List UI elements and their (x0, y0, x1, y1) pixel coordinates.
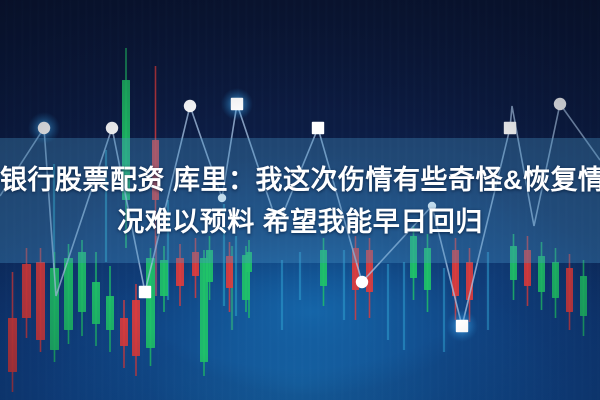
chart-candle-body (132, 300, 140, 356)
chart-candle-body (120, 318, 128, 346)
chart-node-square (504, 122, 516, 134)
chart-candle-body (92, 282, 100, 324)
chart-candle-body (36, 262, 45, 340)
headline-line-1: 银行股票配资 库里：我这次伤情有些奇怪&恢复情 (0, 159, 600, 201)
chart-node-circle (554, 98, 566, 110)
chart-candle-body (552, 262, 559, 298)
chart-node-square (231, 98, 243, 110)
chart-candle-body (106, 296, 114, 330)
chart-node-circle (356, 276, 368, 288)
chart-node-circle (38, 122, 50, 134)
chart-candle-body (200, 258, 208, 362)
chart-candle-body (566, 268, 573, 312)
banner-image: 银行股票配资 库里：我这次伤情有些奇怪&恢复情 况难以预料 希望我能早日回归 (0, 0, 600, 400)
chart-node-square (456, 320, 468, 332)
chart-candle-body (8, 318, 17, 372)
chart-node-circle (106, 122, 118, 134)
chart-node-square (139, 286, 151, 298)
headline-line-2: 况难以预料 希望我能早日回归 (0, 201, 600, 243)
chart-node-circle (184, 100, 196, 112)
headline-text: 银行股票配资 库里：我这次伤情有些奇怪&恢复情 况难以预料 希望我能早日回归 (0, 159, 600, 243)
chart-node-square (312, 122, 324, 134)
chart-candle-body (22, 264, 31, 318)
chart-candle-body (580, 276, 587, 316)
chart-candle-body (160, 260, 168, 296)
